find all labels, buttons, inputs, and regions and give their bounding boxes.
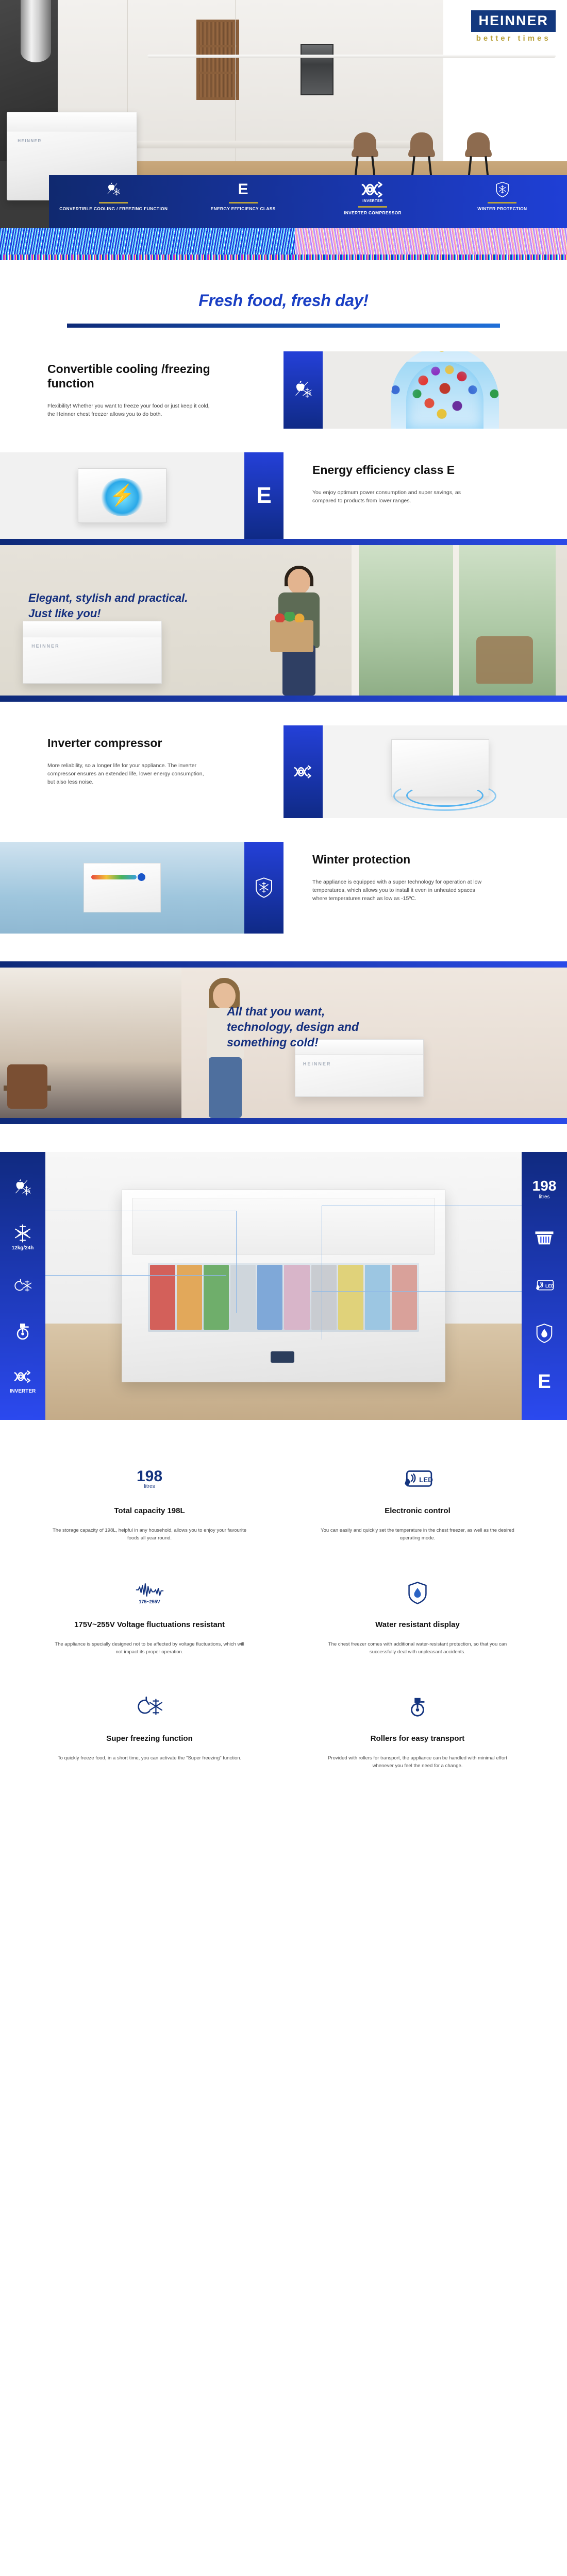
- feature-icon-badge: [283, 351, 323, 429]
- divider: [229, 202, 258, 204]
- banner-image: HEINNER Elegant, stylish and practical. …: [0, 545, 567, 696]
- grid-cell-electronic-control: LED Electronic control You can easily an…: [283, 1449, 552, 1563]
- feature-media: ⚡ E: [0, 452, 283, 539]
- energy-class-e-icon: E: [538, 1371, 551, 1393]
- grid-cell-voltage: 175~255V 175V~255V Voltage fluctuations …: [15, 1563, 283, 1676]
- basket-icon: [534, 1227, 555, 1248]
- grid-cell-title: 175V~255V Voltage fluctuations resistant: [52, 1620, 247, 1629]
- shield-water-drop-icon: [534, 1323, 555, 1344]
- frozen-berries-arch: [391, 351, 499, 429]
- winter-photo: [0, 842, 244, 934]
- brand-logo: HEINNER better times: [471, 10, 556, 43]
- freezing-capacity-label: 12kg/24h: [12, 1245, 34, 1251]
- inverter-icon-label: INVERTER: [362, 199, 382, 203]
- apple-snowflake-icon: [105, 180, 122, 199]
- control-panel: [271, 1351, 294, 1363]
- callout-line: [45, 1211, 236, 1211]
- led-badge-text: LED: [419, 1476, 433, 1484]
- hero-feature-energy: E ENERGY EFFICIENCY CLASS: [178, 175, 308, 229]
- grid-cell-body: You can easily and quickly set the tempe…: [320, 1527, 515, 1542]
- outdoor-chair: [476, 636, 533, 684]
- spec-water-resistant: [534, 1323, 555, 1344]
- grid-cell-rollers: Rollers for easy transport Provided with…: [283, 1676, 552, 1790]
- fast-freeze-icon: [52, 1690, 247, 1724]
- spec-energy-class: E: [538, 1371, 551, 1393]
- grid-cell-super-freezing: Super freezing function To quickly freez…: [15, 1676, 283, 1790]
- lifestyle-banner-allthat: HEINNER All that you want, technology, d…: [0, 961, 567, 1124]
- grid-cell-title: Electronic control: [320, 1506, 515, 1515]
- inverter-photo: [323, 725, 567, 818]
- headline-divider: [67, 324, 500, 328]
- hero-feature-winter: WINTER PROTECTION: [438, 175, 567, 229]
- fast-freeze-icon: [12, 1276, 33, 1296]
- grid-cell-title: Rollers for easy transport: [320, 1734, 515, 1743]
- feature-row-energy: Energy efficiency class E You enjoy opti…: [0, 429, 567, 539]
- banner-line-1: Elegant, stylish and practical.: [28, 591, 188, 604]
- wood-shelf-niche: [196, 20, 239, 100]
- inverter-icon: [359, 180, 386, 199]
- spec-basket: [534, 1227, 555, 1248]
- callout-line: [322, 1206, 322, 1340]
- feature-icon-badge: E: [244, 452, 283, 539]
- feature-text: Winter protection The appliance is equip…: [283, 842, 567, 903]
- banner-bottom-bar: [0, 696, 567, 702]
- voltage-range-label: 175~255V: [139, 1599, 160, 1604]
- capacity-value: 198: [137, 1469, 162, 1484]
- shelf-board: [199, 45, 236, 47]
- spec-freezing-capacity: 12kg/24h: [12, 1223, 34, 1251]
- voltage-wave-icon: 175~255V: [52, 1576, 247, 1610]
- kitchen-interior: [0, 968, 181, 1118]
- spec-inverter: INVERTER: [10, 1366, 36, 1394]
- grid-cell-title: Total capacity 198L: [52, 1506, 247, 1515]
- led-touch-icon: LED: [320, 1462, 515, 1496]
- grid-cell-body: The chest freezer comes with additional …: [320, 1640, 515, 1656]
- spec-super-freeze: [12, 1276, 33, 1296]
- lifestyle-banner-elegant: HEINNER Elegant, stylish and practical. …: [0, 539, 567, 702]
- capacity-number-icon: 198 litres: [52, 1462, 247, 1496]
- grid-cell-body: Provided with rollers for transport, the…: [320, 1754, 515, 1770]
- temperature-bulb: [138, 873, 145, 881]
- snowflake-icon: [12, 1223, 33, 1244]
- berries-photo: [323, 351, 567, 429]
- product-spec-diagram: 12kg/24h: [0, 1152, 567, 1420]
- shield-snowflake-icon: [253, 877, 275, 899]
- feature-text: Energy efficiency class E You enjoy opti…: [283, 452, 567, 505]
- energy-photo: ⚡: [0, 452, 244, 539]
- feature-title: Winter protection: [312, 852, 520, 867]
- freezer-interior-baskets: [148, 1263, 419, 1332]
- shelf-board: [199, 72, 236, 74]
- hero-feature-label: INVERTER COMPRESSOR: [344, 210, 402, 216]
- capacity-value: 198: [532, 1179, 557, 1193]
- banner-line-1: All that you want,: [227, 1005, 325, 1018]
- callout-line: [45, 1275, 226, 1276]
- dining-chair: [7, 1064, 47, 1109]
- lightning-bolt-icon: ⚡: [109, 483, 135, 507]
- feature-media: [283, 725, 567, 818]
- banner-copy: All that you want, technology, design an…: [227, 1004, 359, 1050]
- grid-cell-body: The appliance is specially designed not …: [52, 1640, 247, 1656]
- section-headline: Fresh food, fresh day!: [0, 260, 567, 328]
- divider: [358, 206, 387, 208]
- divider: [99, 202, 128, 204]
- banner-top-bar: [0, 539, 567, 545]
- banner-copy: Elegant, stylish and practical. Just lik…: [28, 590, 188, 621]
- banner-top-bar: [0, 961, 567, 968]
- spec-capacity: 198 litres: [532, 1179, 557, 1200]
- inverter-icon: [12, 1366, 33, 1387]
- feature-media: [0, 842, 283, 934]
- feature-row-inverter: Inverter compressor More reliability, so…: [0, 702, 567, 818]
- range-hood: [21, 0, 51, 62]
- feature-title: Convertible cooling /freezing function: [47, 362, 255, 391]
- feature-text: Convertible cooling /freezing function F…: [0, 351, 283, 418]
- woman-with-groceries: [261, 567, 338, 696]
- caster-wheel-icon: [320, 1690, 515, 1724]
- brand-tagline: better times: [471, 34, 556, 43]
- page-headline: Fresh food, fresh day!: [0, 291, 567, 310]
- brand-logo-mark: HEINNER: [471, 10, 556, 32]
- feature-title: Inverter compressor: [47, 736, 255, 750]
- banner-bottom-bar: [0, 1118, 567, 1124]
- callout-line: [312, 1291, 522, 1292]
- freezer-lid: [23, 621, 161, 637]
- chest-freezer-open: [122, 1190, 445, 1382]
- light-rail: [147, 55, 556, 58]
- hero-feature-bar: CONVERTIBLE COOLING / FREEZING FUNCTION …: [49, 175, 567, 229]
- apple-snowflake-icon: [12, 1178, 33, 1198]
- divider: [488, 202, 516, 204]
- banner-line-2: technology, design and: [227, 1020, 359, 1033]
- shield-snowflake-icon: [495, 180, 509, 199]
- freezer-open-lid: [132, 1198, 436, 1256]
- apple-snowflake-icon: [292, 379, 314, 401]
- product-photo-with-callouts: [45, 1152, 522, 1420]
- hero-feature-label: CONVERTIBLE COOLING / FREEZING FUNCTION: [59, 206, 168, 212]
- sound-wave-decoration: [406, 784, 483, 807]
- spec-rollers: [12, 1321, 33, 1342]
- callout-line: [236, 1211, 237, 1313]
- product-brand-label: HEINNER: [18, 139, 42, 143]
- grid-cell-water-resistant: Water resistant display The chest freeze…: [283, 1563, 552, 1676]
- callout-line: [322, 1206, 522, 1206]
- hero-feature-label: ENERGY EFFICIENCY CLASS: [211, 206, 276, 212]
- freezer-lid: [7, 112, 137, 131]
- svg-text:LED: LED: [545, 1283, 554, 1289]
- color-strip-decoration: [0, 255, 567, 260]
- built-in-oven: [301, 44, 333, 95]
- spec-convertible: [12, 1178, 33, 1198]
- temperature-gauge: [91, 875, 137, 879]
- hero-feature-label: WINTER PROTECTION: [477, 206, 527, 212]
- product-brand-label: HEINNER: [31, 643, 60, 649]
- energy-class-glyph: E: [238, 181, 248, 198]
- feature-icon-badge: [244, 842, 283, 934]
- hero-banner: HEINNER HEINNER better times CONVERTIBLE…: [0, 0, 567, 260]
- energy-class-e-icon: E: [256, 483, 271, 509]
- feature-text: Inverter compressor More reliability, so…: [0, 725, 283, 786]
- capacity-unit: litres: [539, 1194, 549, 1200]
- banner-line-2: Just like you!: [28, 607, 101, 620]
- feature-icon-badge: [283, 725, 323, 818]
- feature-media: [283, 351, 567, 429]
- left-spec-rail: 12kg/24h: [0, 1152, 45, 1420]
- banner-line-3: something cold!: [227, 1036, 319, 1049]
- feature-body: The appliance is equipped with a super t…: [312, 878, 482, 903]
- grid-cell-title: Water resistant display: [320, 1620, 515, 1629]
- led-touch-icon: LED: [534, 1275, 555, 1296]
- grid-cell-body: To quickly freeze food, in a short time,…: [52, 1754, 247, 1762]
- feature-grid: 198 litres Total capacity 198L The stora…: [0, 1420, 567, 1826]
- product-chest-freezer: HEINNER: [23, 621, 162, 684]
- freezer-illustration: [84, 863, 161, 912]
- feature-row-convertible: Convertible cooling /freezing function F…: [0, 328, 567, 429]
- grid-cell-title: Super freezing function: [52, 1734, 247, 1743]
- feature-row-winter: Winter protection The appliance is equip…: [0, 818, 567, 934]
- feature-body: Flexibility! Whether you want to freeze …: [47, 402, 212, 418]
- right-spec-rail: 198 litres LED: [522, 1152, 567, 1420]
- inverter-icon: [292, 761, 314, 783]
- capacity-unit: litres: [144, 1484, 155, 1489]
- feature-body: You enjoy optimum power consumption and …: [312, 488, 482, 505]
- hero-feature-convertible: CONVERTIBLE COOLING / FREEZING FUNCTION: [49, 175, 178, 229]
- energy-class-e-icon: E: [238, 180, 248, 199]
- product-brand-label: HEINNER: [303, 1061, 331, 1066]
- feature-title: Energy efficiency class E: [312, 463, 520, 477]
- shield-water-drop-icon: [320, 1576, 515, 1610]
- grid-cell-body: The storage capacity of 198L, helpful in…: [52, 1527, 247, 1542]
- inverter-label: INVERTER: [10, 1388, 36, 1394]
- hero-feature-inverter: INVERTER INVERTER COMPRESSOR: [308, 175, 437, 229]
- banner-image: HEINNER All that you want, technology, d…: [0, 968, 567, 1118]
- grid-cell-capacity: 198 litres Total capacity 198L The stora…: [15, 1449, 283, 1563]
- caster-wheel-icon: [12, 1321, 33, 1342]
- spec-electronic-control: LED: [534, 1275, 555, 1296]
- feature-body: More reliability, so a longer life for y…: [47, 761, 212, 786]
